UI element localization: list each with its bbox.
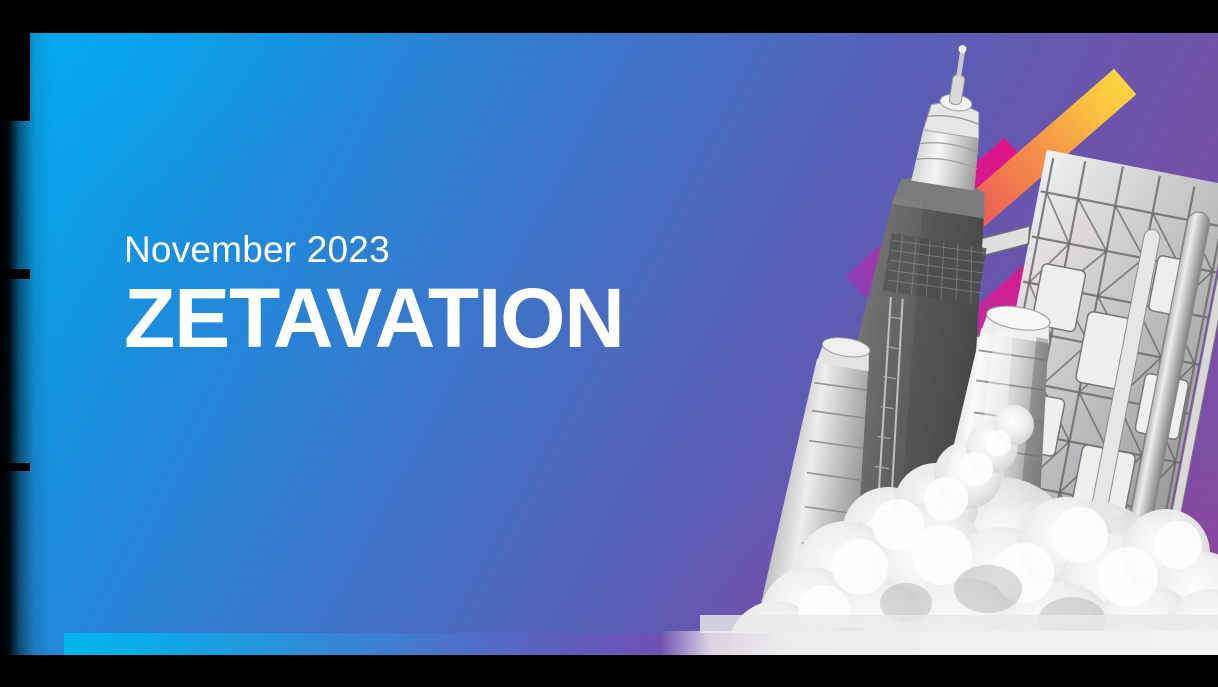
- accent-bar-smoke-overlap: [660, 631, 1218, 655]
- title-slide: November 2023 ZETAVATION: [0, 33, 1218, 655]
- slide-date-label: November 2023: [124, 229, 824, 272]
- left-edge-notch: [0, 463, 30, 471]
- page-title: ZETAVATION: [124, 276, 824, 362]
- left-edge-notch: [0, 269, 30, 279]
- slide-frame: November 2023 ZETAVATION: [0, 0, 1218, 687]
- title-text-block: November 2023 ZETAVATION: [124, 229, 824, 361]
- left-edge-notch: [0, 33, 30, 121]
